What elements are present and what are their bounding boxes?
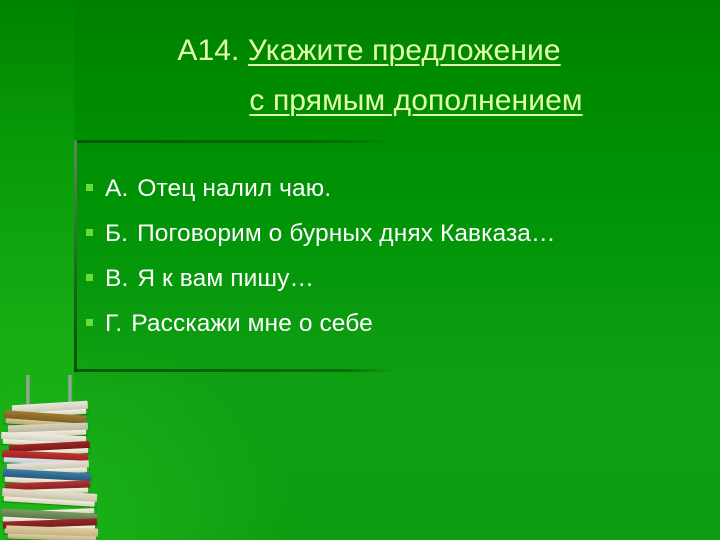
square-bullet-icon bbox=[86, 319, 93, 326]
hanger-line-icon bbox=[26, 375, 30, 405]
list-item[interactable]: А. Отец налил чаю. bbox=[86, 166, 686, 211]
stack-of-books-image bbox=[0, 375, 116, 540]
title-text-line-2: с прямым дополнением bbox=[249, 84, 582, 117]
option-text: Расскажи мне о себе bbox=[131, 310, 373, 338]
page-title: А14. Укажите предложение с прямым дополн… bbox=[0, 26, 720, 126]
slide-canvas: А14. Укажите предложение с прямым дополн… bbox=[0, 0, 720, 540]
option-letter: Б. bbox=[105, 220, 128, 248]
content-divider-left bbox=[74, 140, 77, 372]
option-text: Отец налил чаю. bbox=[137, 175, 331, 203]
hanger-line-icon bbox=[68, 375, 72, 405]
option-text: Я к вам пишу… bbox=[137, 265, 314, 293]
content-divider-top bbox=[74, 140, 394, 143]
option-letter: В. bbox=[105, 265, 128, 293]
list-item[interactable]: Г. Расскажи мне о себе bbox=[86, 301, 686, 346]
question-number: А14. bbox=[177, 34, 239, 67]
square-bullet-icon bbox=[86, 229, 93, 236]
square-bullet-icon bbox=[86, 184, 93, 191]
answer-options-list: А. Отец налил чаю. Б. Поговорим о бурных… bbox=[86, 166, 686, 346]
book-item bbox=[6, 525, 98, 540]
title-text-line-1: Укажите предложение bbox=[248, 34, 561, 67]
option-letter: Г. bbox=[105, 310, 122, 338]
square-bullet-icon bbox=[86, 274, 93, 281]
list-item[interactable]: Б. Поговорим о бурных днях Кавказа… bbox=[86, 211, 686, 256]
option-letter: А. bbox=[105, 175, 128, 203]
title-line-1: А14. Укажите предложение bbox=[0, 26, 720, 76]
content-divider-bottom bbox=[74, 369, 394, 372]
option-text: Поговорим о бурных днях Кавказа… bbox=[137, 220, 556, 248]
list-item[interactable]: В. Я к вам пишу… bbox=[86, 256, 686, 301]
title-line-2: с прямым дополнением bbox=[0, 76, 720, 126]
